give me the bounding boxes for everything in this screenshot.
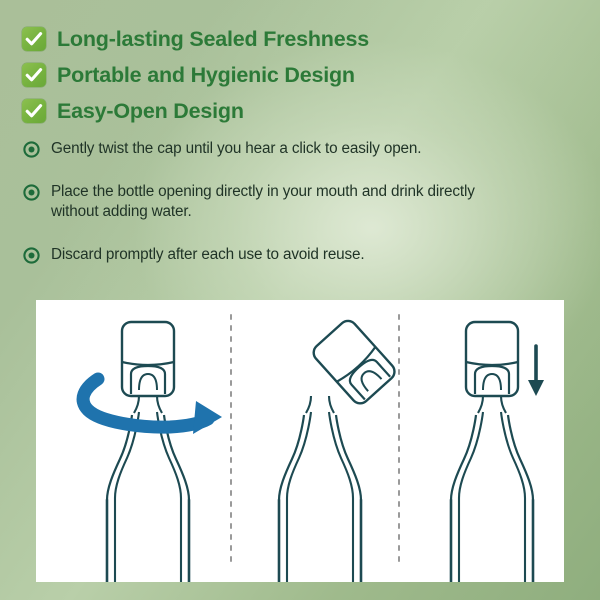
feature-item: Easy-Open Design — [22, 94, 582, 128]
twist-cap-step — [83, 322, 222, 582]
instruction-text: Discard promptly after each use to avoid… — [51, 245, 365, 266]
instruction-list: Gently twist the cap until you hear a cl… — [23, 139, 523, 288]
bottle-down-arrow-icon — [528, 346, 544, 396]
infographic-root: Long-lasting Sealed Freshness Portable a… — [0, 0, 600, 600]
feature-label: Portable and Hygienic Design — [57, 63, 355, 88]
check-square-icon — [22, 99, 46, 123]
remove-cap-step — [279, 317, 398, 582]
bottle-tilted-cap-icon — [310, 317, 398, 407]
check-square-icon — [22, 63, 46, 87]
feature-list: Long-lasting Sealed Freshness Portable a… — [22, 22, 582, 130]
ring-bullet-icon — [23, 141, 40, 158]
feature-label: Easy-Open Design — [57, 99, 244, 124]
ring-bullet-icon — [23, 184, 40, 201]
instruction-item: Place the bottle opening directly in you… — [23, 182, 523, 223]
feature-label: Long-lasting Sealed Freshness — [57, 27, 369, 52]
feature-item: Portable and Hygienic Design — [22, 58, 582, 92]
instruction-item: Discard promptly after each use to avoid… — [23, 245, 523, 266]
ring-bullet-icon — [23, 247, 40, 264]
check-square-icon — [22, 27, 46, 51]
feature-item: Long-lasting Sealed Freshness — [22, 22, 582, 56]
instruction-text: Place the bottle opening directly in you… — [51, 182, 491, 223]
illustration-card — [36, 300, 564, 582]
instruction-item: Gently twist the cap until you hear a cl… — [23, 139, 523, 160]
illustration-svg — [36, 300, 564, 582]
instruction-text: Gently twist the cap until you hear a cl… — [51, 139, 421, 160]
press-cap-step — [451, 322, 544, 582]
